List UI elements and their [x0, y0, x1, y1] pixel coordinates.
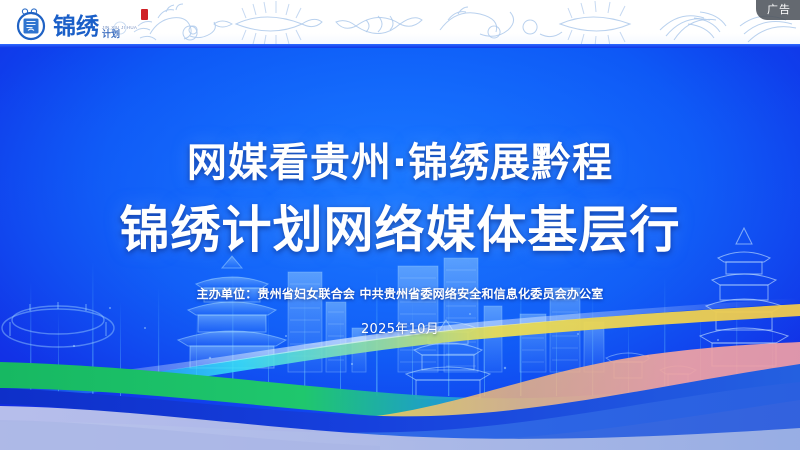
ad-poster[interactable]: 锦绣 JIN XIU JI HUA 计划 广告 网媒看贵州·锦绣展黔程 锦绣计划…: [0, 0, 800, 450]
title-line-2: 锦绣计划网络媒体基层行: [0, 203, 800, 258]
organizer-line: 主办单位：贵州省妇女联合会 中共贵州省委网络安全和信息化委员会办公室: [0, 285, 800, 302]
title-line-1: 网媒看贵州·锦绣展黔程: [0, 141, 800, 185]
poster-content: 网媒看贵州·锦绣展黔程 锦绣计划网络媒体基层行 主办单位：贵州省妇女联合会 中共…: [0, 0, 800, 450]
event-date: 2025年10月: [0, 318, 800, 337]
